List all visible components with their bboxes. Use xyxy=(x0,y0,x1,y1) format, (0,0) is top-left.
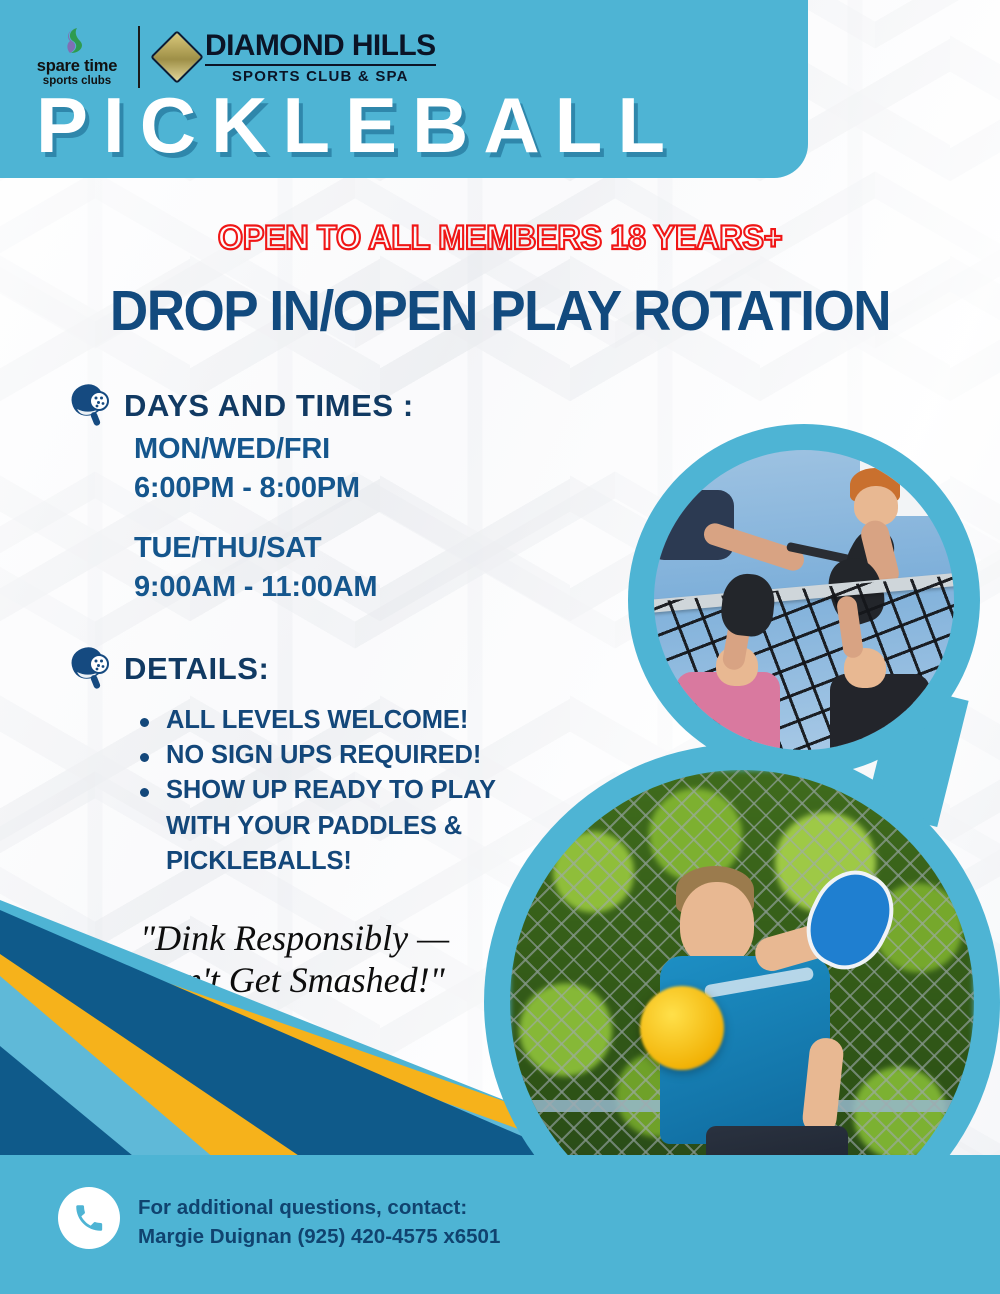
days-and-times-title: DAYS AND TIMES : xyxy=(124,388,414,424)
contact-line-2: Margie Duignan (925) 420-4575 x6501 xyxy=(138,1222,500,1251)
schedule-days: TUE/THU/SAT xyxy=(134,529,414,568)
pickleball xyxy=(640,986,724,1070)
phone-icon xyxy=(58,1187,120,1249)
sport-title: PICKLEBALL xyxy=(36,86,680,164)
list-item-continuation: PICKLEBALLS! xyxy=(134,844,496,879)
diamond-icon xyxy=(150,30,204,84)
logo-divider xyxy=(138,26,140,88)
list-item: SHOW UP READY TO PLAY xyxy=(134,773,496,808)
pickleball-flyer: spare time sports clubs DIAMOND HILLS SP… xyxy=(0,0,1000,1294)
schedule-time: 9:00AM - 11:00AM xyxy=(134,568,414,607)
diamond-hills-name: DIAMOND HILLS xyxy=(205,31,436,61)
contact-line-1: For additional questions, contact: xyxy=(138,1193,500,1222)
contact-info: For additional questions, contact: Margi… xyxy=(138,1193,500,1251)
list-item-continuation: WITH YOUR PADDLES & xyxy=(134,809,496,844)
player-head xyxy=(680,882,754,966)
list-item: NO SIGN UPS REQUIRED! xyxy=(134,738,496,773)
details-bullet-list: ALL LEVELS WELCOME! NO SIGN UPS REQUIRED… xyxy=(134,703,496,879)
spare-time-logo: spare time sports clubs xyxy=(34,27,120,87)
details-section: DETAILS: ALL LEVELS WELCOME! NO SIGN UPS… xyxy=(68,645,496,879)
spare-time-name: spare time xyxy=(34,58,120,75)
list-item: ALL LEVELS WELCOME! xyxy=(134,703,496,738)
schedule-group-2: TUE/THU/SAT 9:00AM - 11:00AM xyxy=(134,529,414,606)
eyebrow-headline: OPEN TO ALL MEMBERS 18 YEARS+ xyxy=(20,219,980,258)
player-front-right-shirt xyxy=(830,674,930,750)
pickleball-paddle-icon xyxy=(68,645,112,693)
pickleball-paddle-icon xyxy=(68,382,112,430)
details-title: DETAILS: xyxy=(124,651,269,687)
logo-lockup: spare time sports clubs DIAMOND HILLS SP… xyxy=(34,26,436,88)
schedule-time: 6:00PM - 8:00PM xyxy=(134,469,414,508)
schedule-spacer xyxy=(68,507,414,529)
diamond-hills-rule xyxy=(205,64,436,66)
footer-bar: For additional questions, contact: Margi… xyxy=(0,1155,1000,1294)
diamond-hills-logo: DIAMOND HILLS SPORTS CLUB & SPA xyxy=(158,31,436,84)
header-band: spare time sports clubs DIAMOND HILLS SP… xyxy=(0,0,808,178)
photo-players-at-net xyxy=(654,450,954,750)
spare-time-s-mark-icon xyxy=(34,27,120,55)
page-title: DROP IN/OPEN PLAY ROTATION xyxy=(35,278,965,344)
schedule-days: MON/WED/FRI xyxy=(134,430,414,469)
days-and-times-section: DAYS AND TIMES : MON/WED/FRI 6:00PM - 8:… xyxy=(68,382,414,606)
schedule-group-1: MON/WED/FRI 6:00PM - 8:00PM xyxy=(134,430,414,507)
